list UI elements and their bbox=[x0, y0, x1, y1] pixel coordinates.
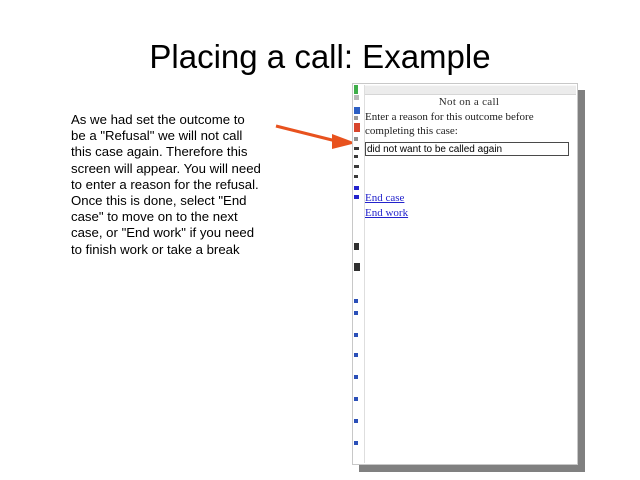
sidebar-fragment-blue7 bbox=[354, 353, 358, 357]
sidebar-fragment-text5 bbox=[354, 243, 359, 250]
not-on-a-call-heading: Not on a call bbox=[365, 96, 573, 108]
embedded-screenshot: Not on a call Enter a reason for this ou… bbox=[352, 83, 578, 465]
sidebar-fragment-gray1 bbox=[354, 95, 359, 100]
reason-input[interactable] bbox=[365, 142, 569, 156]
sidebar-fragment-text1 bbox=[354, 147, 359, 150]
sidebar-fragment-gray2 bbox=[354, 116, 358, 120]
sidebar-fragment-blue3 bbox=[354, 195, 359, 199]
slide-body-text: As we had set the outcome to be a "Refus… bbox=[71, 112, 261, 258]
sidebar-fragment-red bbox=[354, 123, 360, 132]
sidebar-fragment-green bbox=[354, 85, 358, 94]
sidebar-fragment-blue4 bbox=[354, 299, 358, 303]
embedded-content-area: Not on a call Enter a reason for this ou… bbox=[365, 94, 573, 462]
sidebar-fragment-blue1 bbox=[354, 107, 360, 114]
embedded-action-links: End case End work bbox=[365, 192, 408, 222]
sidebar-fragment-blue10 bbox=[354, 419, 358, 423]
embedded-sidebar-clipped bbox=[354, 85, 365, 463]
sidebar-fragment-blue6 bbox=[354, 333, 358, 337]
reason-instruction-text: Enter a reason for this outcome before c… bbox=[365, 111, 569, 138]
arrow-right-icon bbox=[274, 118, 360, 150]
sidebar-fragment-text3 bbox=[354, 165, 359, 168]
sidebar-fragment-blue5 bbox=[354, 311, 358, 315]
sidebar-fragment-blue2 bbox=[354, 186, 359, 190]
end-case-link[interactable]: End case bbox=[365, 192, 404, 204]
sidebar-fragment-text4 bbox=[354, 175, 358, 178]
sidebar-fragment-blue9 bbox=[354, 397, 358, 401]
sidebar-fragment-blue8 bbox=[354, 375, 358, 379]
sidebar-fragment-text2 bbox=[354, 155, 358, 158]
sidebar-fragment-blue11 bbox=[354, 441, 358, 445]
page-title: Placing a call: Example bbox=[0, 38, 640, 76]
end-work-link[interactable]: End work bbox=[365, 207, 408, 219]
sidebar-fragment-text6 bbox=[354, 263, 360, 271]
sidebar-fragment-gray3 bbox=[354, 137, 358, 141]
